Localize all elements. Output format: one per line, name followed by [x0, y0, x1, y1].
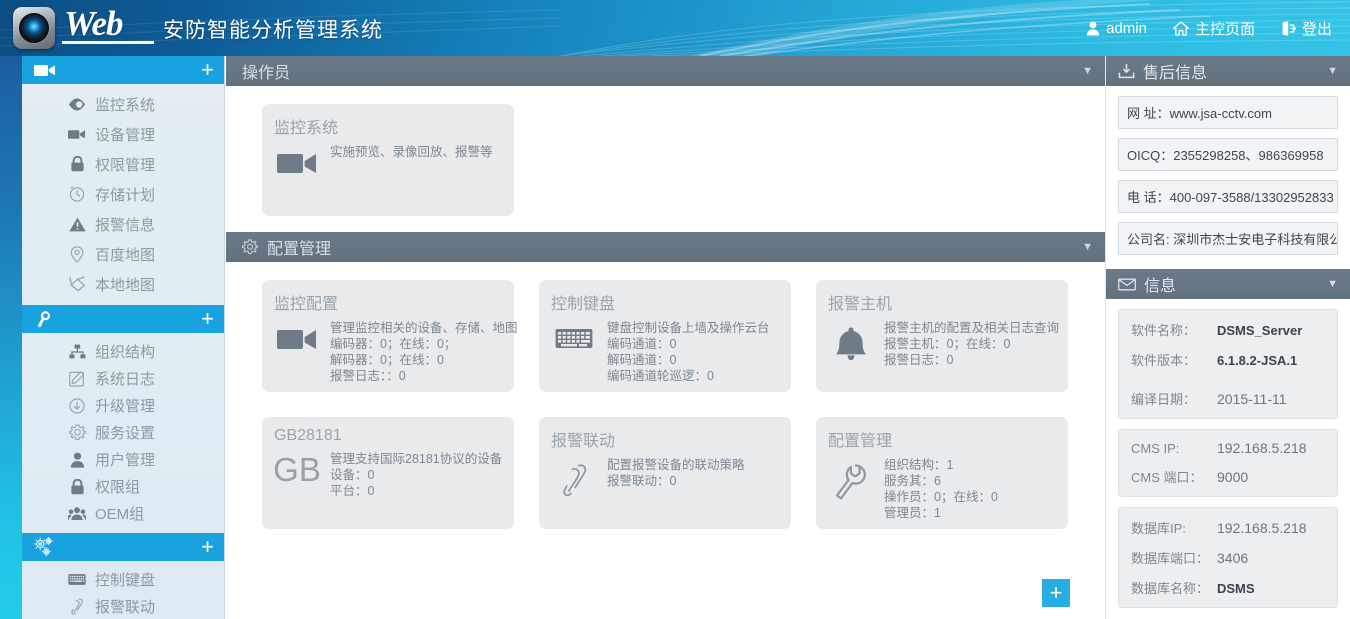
panel-title: 操作员 — [242, 59, 290, 83]
sidebar-item-control-keyboard[interactable]: 控制键盘 — [22, 566, 224, 593]
add-button[interactable]: + — [201, 61, 214, 79]
sidebar-item-label: 本地地图 — [95, 274, 155, 295]
logout-label: 登出 — [1302, 18, 1332, 39]
field-company[interactable]: 公司名: 深圳市杰士安电子科技有限公司 — [1118, 222, 1338, 255]
sidebar-item-label: 升级管理 — [95, 395, 155, 416]
sitemap-icon — [68, 343, 86, 361]
service-info-fields: 网 址：www.jsa-cctv.com OICQ：2355298258、986… — [1106, 86, 1350, 263]
card-body: 配置报警设备的联动策略 报警联动：0 — [551, 455, 781, 499]
card-lines: 报警主机的配置及相关日志查询 报警主机：0；在线：0 报警日志：0 — [884, 318, 1059, 368]
card-configuration-management[interactable]: 配置管理 组织结构：1 服务其：6 操作员：0；在线：0 管理员：1 — [816, 417, 1068, 529]
main-content: 操作员 ▼ 监控系统 实施预览、录像回放、报警等 配置管理 — [226, 56, 1105, 619]
info-key: CMS IP: — [1131, 441, 1217, 456]
card-lines: 管理监控相关的设备、存储、地图 编码器：0；在线：0； 解码器：0；在线：0 报… — [330, 318, 518, 384]
info-key: 数据库IP: — [1131, 518, 1217, 537]
add-button[interactable]: + — [201, 310, 214, 328]
info-key: 编译日期： — [1131, 389, 1217, 408]
sidebar-item-storage-plan[interactable]: 存储计划 — [22, 179, 224, 209]
sidebar-item-label: 报警联动 — [95, 596, 155, 617]
application-root: Web 安防智能分析管理系统 admin 主控页面 登出 — [0, 0, 1350, 619]
sidebar-item-baidu-map[interactable]: 百度地图 — [22, 239, 224, 269]
card-monitoring-config[interactable]: 监控配置 管理监控相关的设备、存储、地图 编码器：0；在线：0； 解码器：0；在… — [262, 280, 514, 392]
sidebar-item-label: 监控系统 — [95, 94, 155, 115]
sidebar-item-label: OEM组 — [95, 503, 144, 524]
card-title: 报警联动 — [551, 427, 781, 451]
lock-icon — [68, 155, 86, 173]
sidebar-item-label: 用户管理 — [95, 449, 155, 470]
card-line: 服务其：6 — [884, 473, 998, 489]
card-lines: 配置报警设备的联动策略 报警联动：0 — [607, 455, 745, 489]
left-accent-strip — [0, 56, 22, 619]
card-title: 报警主机 — [828, 290, 1058, 314]
panel-header-service-info[interactable]: 售后信息 ▼ — [1106, 56, 1350, 86]
logout-button[interactable]: 登出 — [1281, 18, 1332, 39]
sidebar-item-system-log[interactable]: 系统日志 — [22, 365, 224, 392]
info-row: 软件名称： DSMS_Server — [1131, 320, 1325, 339]
info-value: DSMS_Server — [1217, 323, 1302, 338]
sidebar-item-org-structure[interactable]: 组织结构 — [22, 338, 224, 365]
wrench-icon — [34, 310, 53, 329]
link-icon — [551, 455, 597, 499]
brand-underline — [62, 41, 154, 44]
gear-icon — [68, 424, 86, 442]
card-line: 报警联动：0 — [607, 473, 745, 489]
panel-title: 售后信息 — [1143, 59, 1207, 83]
info-key: 数据库名称： — [1131, 578, 1217, 597]
sidebar-item-monitoring-system[interactable]: 监控系统 — [22, 89, 224, 119]
card-monitoring-system[interactable]: 监控系统 实施预览、录像回放、报警等 — [262, 104, 514, 216]
card-control-keyboard[interactable]: 控制键盘 键盘控制设备上墙及操作云台 编码通道：0 解码通道：0 编码通道轮巡逻… — [539, 280, 791, 392]
panel-header-configuration[interactable]: 配置管理 ▼ — [226, 232, 1105, 262]
card-title: 监控系统 — [274, 114, 504, 138]
logout-icon — [1281, 21, 1296, 36]
card-line: 报警主机：0；在线：0 — [884, 336, 1059, 352]
sidebar-item-label: 权限组 — [95, 476, 140, 497]
card-lines: 组织结构：1 服务其：6 操作员：0；在线：0 管理员：1 — [884, 455, 998, 521]
card-line: 键盘控制设备上墙及操作云台 — [607, 320, 770, 336]
keyboard-icon — [68, 571, 86, 589]
sidebar-item-label: 控制键盘 — [95, 569, 155, 590]
header-actions: admin 主控页面 登出 — [1086, 0, 1332, 56]
download-icon — [68, 397, 86, 415]
sidebar-item-label: 组织结构 — [95, 341, 155, 362]
warning-icon — [68, 215, 86, 233]
camera-icon — [274, 318, 320, 352]
app-header: Web 安防智能分析管理系统 admin 主控页面 登出 — [0, 0, 1350, 56]
right-sidebar: 售后信息 ▼ 网 址：www.jsa-cctv.com OICQ：2355298… — [1105, 56, 1350, 619]
card-lines: 管理支持国际28181协议的设备 设备：0 平台：0 — [330, 449, 502, 499]
info-key: 软件版本： — [1131, 350, 1217, 369]
sidebar-item-label: 设备管理 — [95, 124, 155, 145]
user-name-label: admin — [1106, 20, 1147, 37]
card-line: 编码通道：0 — [607, 336, 770, 352]
add-button[interactable]: + — [201, 538, 214, 556]
card-gb28181[interactable]: GB28181 GB 管理支持国际28181协议的设备 设备：0 平台：0 — [262, 417, 514, 529]
sidebar-item-label: 报警信息 — [95, 214, 155, 235]
card-line: 管理监控相关的设备、存储、地图 — [330, 320, 518, 336]
sidebar-group-header-monitoring[interactable]: + — [22, 56, 224, 84]
edit-icon — [68, 370, 86, 388]
spacer — [1131, 380, 1325, 389]
sidebar-item-alarm-linkage[interactable]: 报警联动 — [22, 593, 224, 619]
card-line: 操作员：0；在线：0 — [884, 489, 998, 505]
card-line: 编码通道轮巡逻：0 — [607, 368, 770, 384]
card-title: 控制键盘 — [551, 290, 781, 314]
keyboard-icon — [551, 318, 597, 351]
info-block-software: 软件名称： DSMS_Server 软件版本： 6.1.8.2-JSA.1 编译… — [1118, 309, 1338, 419]
card-line: 组织结构：1 — [884, 457, 998, 473]
sidebar-item-label: 权限管理 — [95, 154, 155, 175]
card-title: 监控配置 — [274, 290, 504, 314]
chevron-down-icon[interactable]: ▼ — [1327, 278, 1338, 290]
card-body: GB 管理支持国际28181协议的设备 设备：0 平台：0 — [274, 449, 504, 499]
diamond-icon — [68, 275, 86, 293]
card-body: 报警主机的配置及相关日志查询 报警主机：0；在线：0 报警日志：0 — [828, 318, 1058, 368]
info-key: CMS 端口： — [1131, 467, 1217, 486]
sidebar-item-user-management[interactable]: 用户管理 — [22, 446, 224, 473]
camera-icon — [274, 142, 320, 176]
info-row: CMS IP: 192.168.5.218 — [1131, 440, 1325, 456]
sidebar-item-permission-management[interactable]: 权限管理 — [22, 149, 224, 179]
camera-icon — [68, 125, 86, 143]
info-value: 9000 — [1217, 469, 1248, 485]
user-account-button[interactable]: admin — [1086, 20, 1147, 37]
chevron-down-icon[interactable]: ▼ — [1082, 65, 1093, 77]
card-line: 报警日志：：0 — [330, 368, 518, 384]
card-body: 管理监控相关的设备、存储、地图 编码器：0；在线：0； 解码器：0；在线：0 报… — [274, 318, 504, 384]
sidebar-item-alarm-info[interactable]: 报警信息 — [22, 209, 224, 239]
card-body: 实施预览、录像回放、报警等 — [274, 142, 504, 176]
panel-header-operator[interactable]: 操作员 ▼ — [226, 56, 1105, 86]
info-value: 2015-11-11 — [1217, 391, 1287, 407]
card-lines: 键盘控制设备上墙及操作云台 编码通道：0 解码通道：0 编码通道轮巡逻：0 — [607, 318, 770, 384]
sidebar-item-local-map[interactable]: 本地地图 — [22, 269, 224, 299]
mail-icon — [1118, 278, 1136, 291]
panel-body-operator: 监控系统 实施预览、录像回放、报警等 — [226, 86, 1105, 216]
gb-text-icon: GB — [274, 449, 320, 489]
info-row: 编译日期： 2015-11-11 — [1131, 389, 1325, 408]
info-row: 数据库名称： DSMS — [1131, 578, 1325, 597]
wrench-icon — [828, 455, 874, 501]
field-website[interactable]: 网 址：www.jsa-cctv.com — [1118, 96, 1338, 129]
card-body: 组织结构：1 服务其：6 操作员：0；在线：0 管理员：1 — [828, 455, 1058, 521]
sidebar-item-label: 存储计划 — [95, 184, 155, 205]
sidebar-group-items-monitoring: 监控系统 设备管理 权限管理 存储计划 — [22, 84, 224, 305]
brand-web-text: Web — [64, 4, 123, 44]
info-value: 192.168.5.218 — [1217, 520, 1307, 536]
main-console-label: 主控页面 — [1195, 18, 1255, 39]
info-key: 软件名称： — [1131, 320, 1217, 339]
card-body: 键盘控制设备上墙及操作云台 编码通道：0 解码通道：0 编码通道轮巡逻：0 — [551, 318, 781, 384]
sidebar-item-upgrade-management[interactable]: 升级管理 — [22, 392, 224, 419]
info-value: 192.168.5.218 — [1217, 440, 1307, 456]
info-block-cms: CMS IP: 192.168.5.218 CMS 端口： 9000 — [1118, 429, 1338, 497]
pin-icon — [68, 245, 86, 263]
bell-icon — [828, 318, 874, 362]
card-line: 解码通道：0 — [607, 352, 770, 368]
field-phone[interactable]: 电 话：400-097-3588/13302952833 — [1118, 180, 1338, 213]
sidebar-group-items-advanced: 控制键盘 报警联动 Gb GB28181 — [22, 561, 224, 619]
download-box-icon — [1118, 63, 1135, 79]
sidebar-item-label: 服务设置 — [95, 422, 155, 443]
sidebar-item-service-settings[interactable]: 服务设置 — [22, 419, 224, 446]
home-icon — [1173, 21, 1189, 36]
card-line: 报警日志：0 — [884, 352, 1059, 368]
card-lines: 实施预览、录像回放、报警等 — [330, 142, 493, 160]
sidebar-item-permission-group[interactable]: 权限组 — [22, 473, 224, 500]
info-value: 6.1.8.2-JSA.1 — [1217, 353, 1297, 368]
info-row: 数据库IP: 192.168.5.218 — [1131, 518, 1325, 537]
card-line: 设备：0 — [330, 467, 502, 483]
info-value: 3406 — [1217, 550, 1248, 566]
info-block-database: 数据库IP: 192.168.5.218 数据库端口： 3406 数据库名称： … — [1118, 507, 1338, 608]
card-line: 配置报警设备的联动策略 — [607, 457, 745, 473]
card-line: 管理员：1 — [884, 505, 998, 521]
sidebar-group-items-system: 组织结构 系统日志 升级管理 服务设置 — [22, 333, 224, 533]
info-row: 软件版本： 6.1.8.2-JSA.1 — [1131, 350, 1325, 369]
main-console-link[interactable]: 主控页面 — [1173, 18, 1255, 39]
user-icon — [68, 451, 86, 469]
sidebar: + 监控系统 设备管理 权限管理 — [22, 56, 225, 619]
sidebar-item-label: 百度地图 — [95, 244, 155, 265]
sidebar-group-header-advanced[interactable]: + — [22, 533, 224, 561]
link-icon — [68, 598, 86, 616]
video-camera-icon — [34, 63, 56, 77]
sidebar-item-label: 系统日志 — [95, 368, 155, 389]
app-logo — [13, 7, 55, 49]
card-line: 编码器：0；在线：0； — [330, 336, 518, 352]
card-title: GB28181 — [274, 427, 504, 445]
chevron-down-icon[interactable]: ▼ — [1327, 65, 1338, 77]
card-line: 解码器：0；在线：0 — [330, 352, 518, 368]
info-row: CMS 端口： 9000 — [1131, 467, 1325, 486]
info-row: 数据库端口： 3406 — [1131, 548, 1325, 567]
eye-icon — [68, 95, 86, 113]
gears-icon — [34, 537, 55, 557]
page-title: 安防智能分析管理系统 — [163, 14, 383, 44]
lock-icon — [68, 478, 86, 496]
panel-header-info[interactable]: 信息 ▼ — [1106, 269, 1350, 299]
camera-lens-icon — [19, 13, 49, 43]
card-line: 报警主机的配置及相关日志查询 — [884, 320, 1059, 336]
sidebar-item-device-management[interactable]: 设备管理 — [22, 119, 224, 149]
card-line: 实施预览、录像回放、报警等 — [330, 144, 493, 160]
user-icon — [1086, 21, 1100, 36]
gear-icon — [242, 239, 258, 255]
sidebar-item-oem-group[interactable]: OEM组 — [22, 500, 224, 527]
panel-title: 配置管理 — [267, 235, 331, 259]
chevron-down-icon[interactable]: ▼ — [1082, 241, 1093, 253]
clock-icon — [68, 185, 86, 203]
users-icon — [68, 505, 86, 523]
card-title: 配置管理 — [828, 427, 1058, 451]
panel-body-configuration: 监控配置 管理监控相关的设备、存储、地图 编码器：0；在线：0； 解码器：0；在… — [226, 262, 1105, 529]
card-line: 平台：0 — [330, 483, 502, 499]
field-oicq[interactable]: OICQ：2355298258、986369958 — [1118, 138, 1338, 171]
info-key: 数据库端口： — [1131, 548, 1217, 567]
panel-title: 信息 — [1144, 272, 1176, 296]
add-floating-button[interactable]: + — [1042, 579, 1070, 607]
card-alarm-host[interactable]: 报警主机 报警主机的配置及相关日志查询 报警主机：0；在线：0 报警日志：0 — [816, 280, 1068, 392]
card-alarm-linkage[interactable]: 报警联动 配置报警设备的联动策略 报警联动：0 — [539, 417, 791, 529]
info-value: DSMS — [1217, 581, 1255, 596]
sidebar-group-header-system[interactable]: + — [22, 305, 224, 333]
card-line: 管理支持国际28181协议的设备 — [330, 451, 502, 467]
